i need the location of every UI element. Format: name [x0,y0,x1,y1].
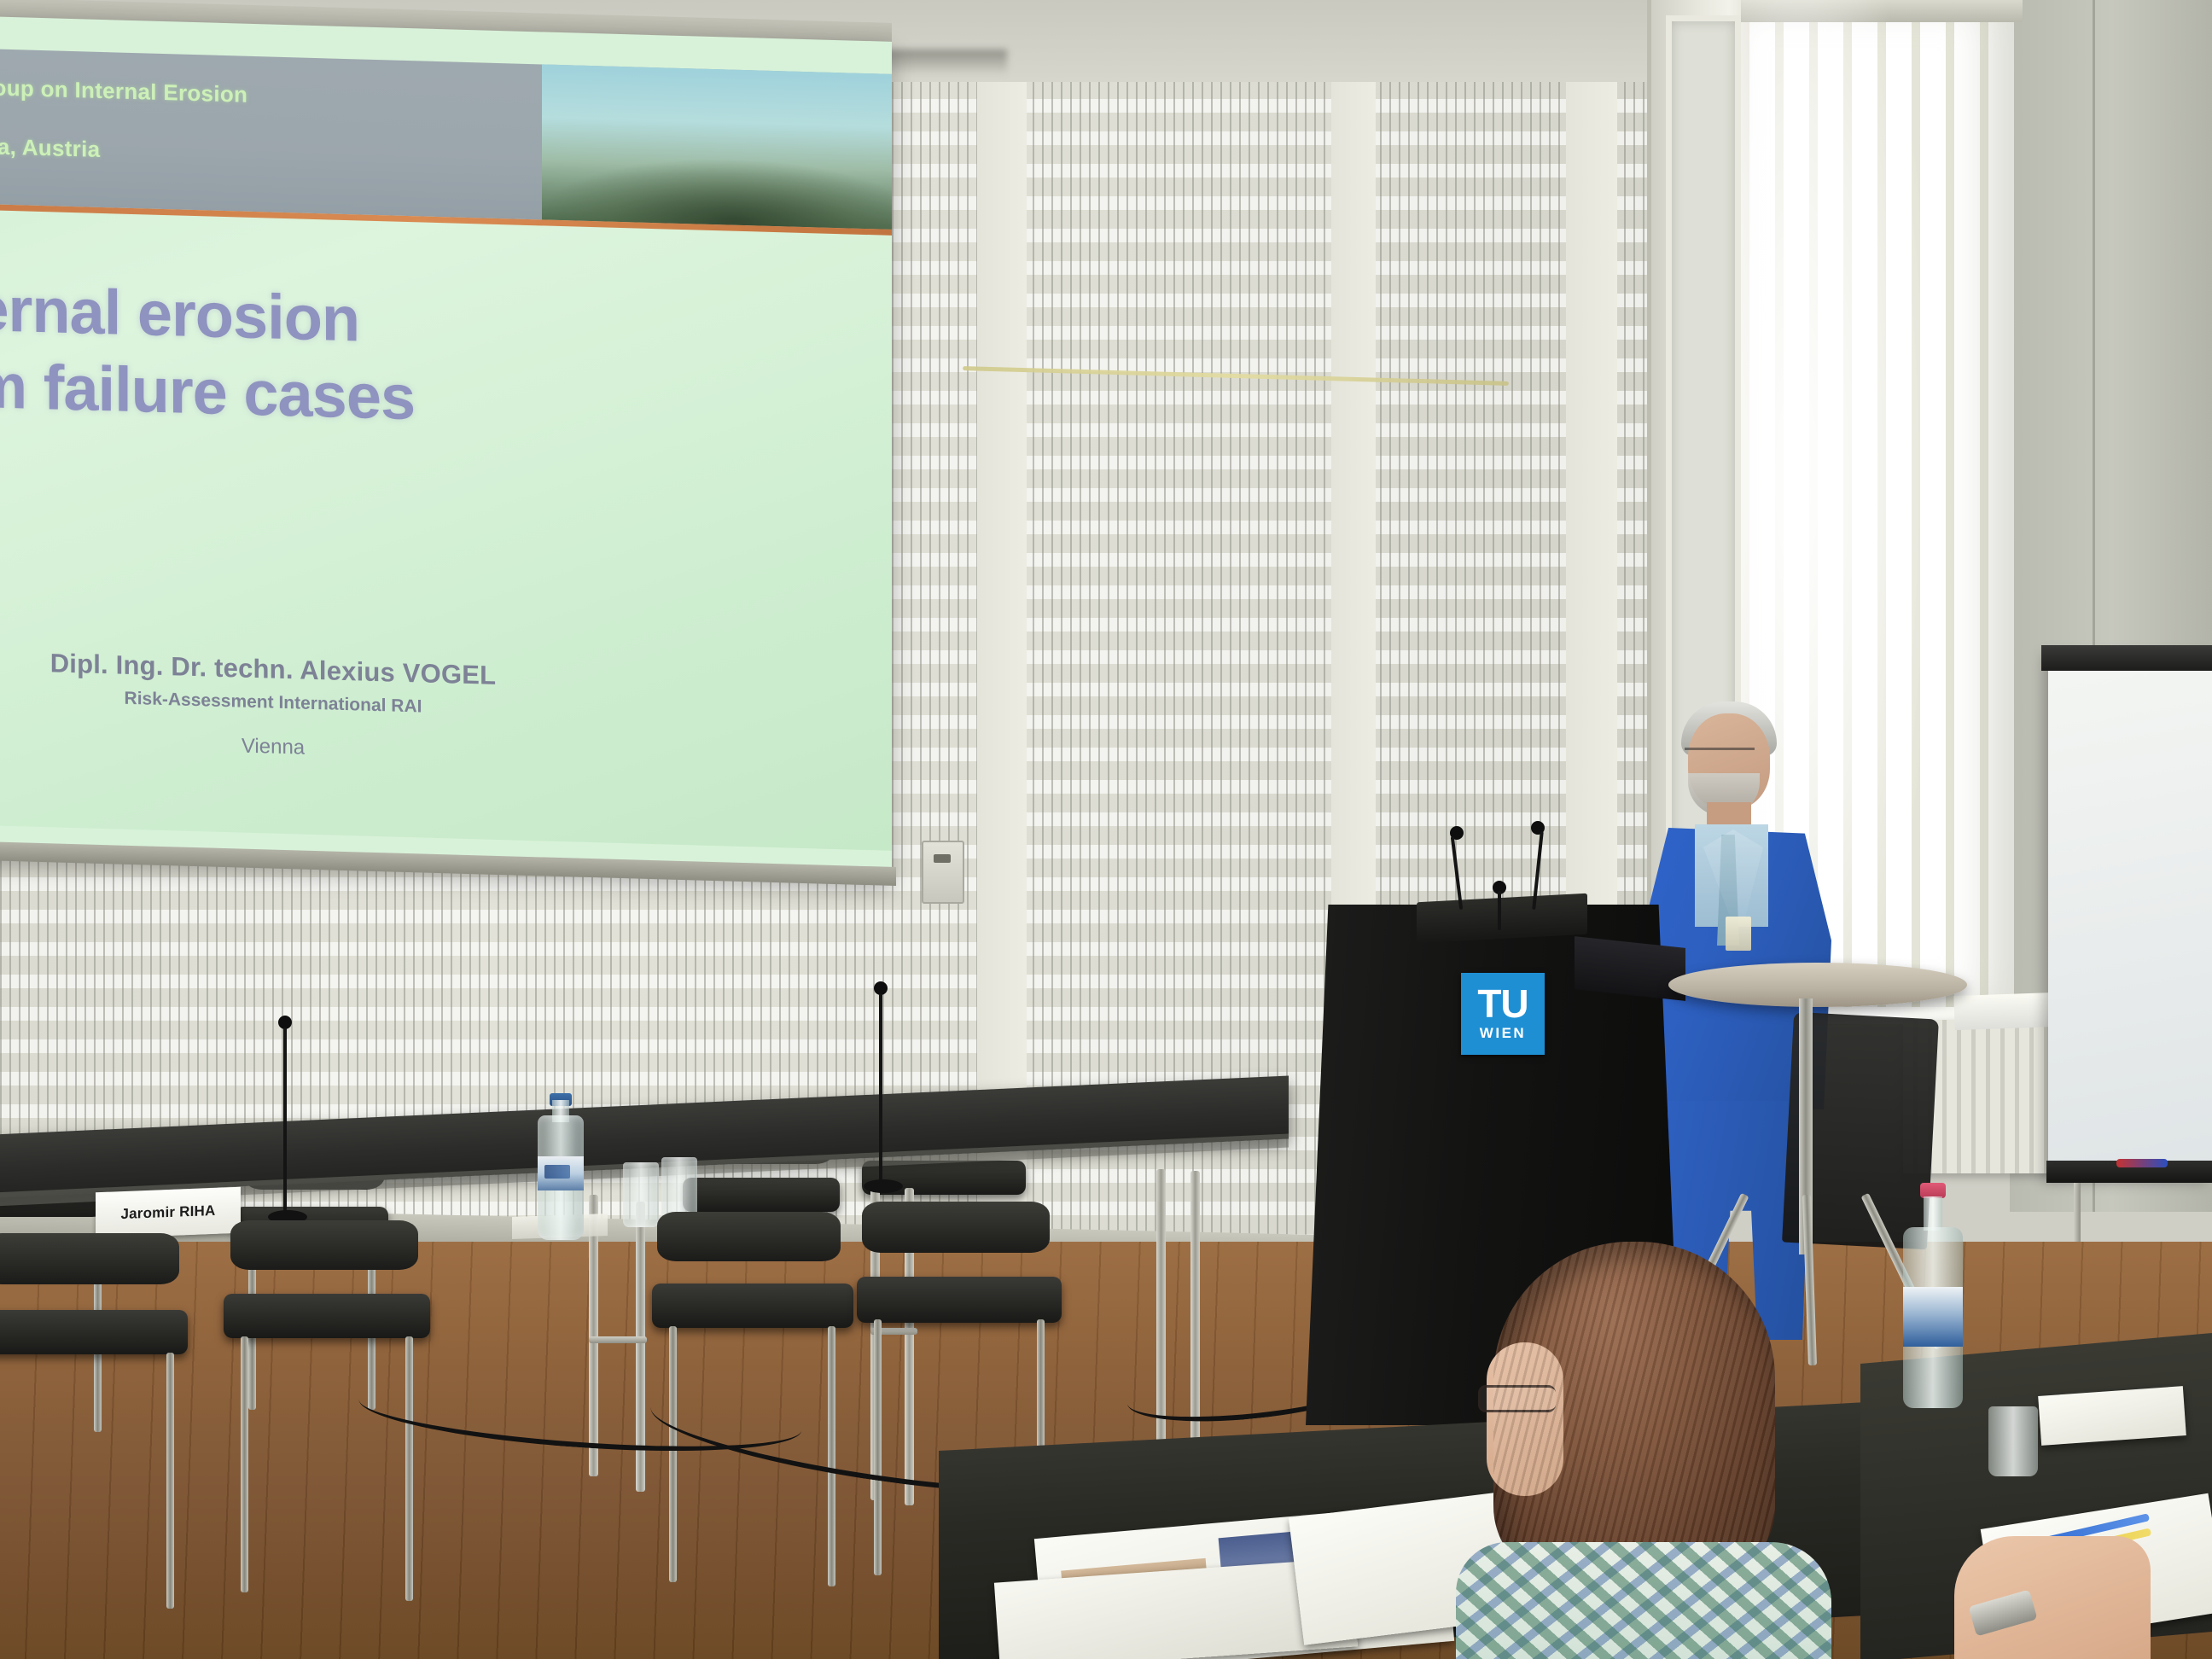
attendee-hand [1954,1536,2151,1659]
chair-leg [241,1336,248,1592]
bottle-label [538,1156,584,1190]
chair-seat [683,1178,840,1212]
chair-back [0,1233,179,1284]
wall-control-plate[interactable] [922,841,964,904]
chair-back [230,1220,418,1270]
water-bottle[interactable] [538,1095,584,1240]
nameplate: Jaromir RIHA [96,1187,241,1239]
blinds-rail [1741,0,2023,22]
tu-logo-line-2: WIEN [1480,1025,1526,1042]
chair-back [657,1212,841,1261]
chair-seat [652,1284,853,1328]
chair-seat [857,1277,1062,1323]
author-city: Vienna [0,726,597,768]
bottle-label [1903,1287,1963,1347]
microphone-stem [1498,891,1501,930]
table-brace [589,1336,647,1343]
nameplate-text: Jaromir RIHA [120,1202,215,1223]
flipchart-markers[interactable] [2116,1159,2168,1167]
standing-table-top [1668,963,1967,1007]
seated-attendee [1442,1242,1886,1659]
drinking-glass[interactable] [1988,1406,2038,1476]
flipchart-top-rail [2041,645,2212,671]
microphone-stem [879,993,882,1181]
tu-logo-line-1: TU [1477,986,1528,1022]
chair-leg [405,1336,413,1601]
drinking-glass[interactable] [623,1162,659,1227]
presentation-slide: rking Group on Internal Erosion eeting 1… [0,48,892,851]
water-bottle[interactable] [1903,1186,1963,1408]
tu-wien-logo: TU WIEN [1461,973,1545,1055]
chair-back [862,1202,1050,1253]
glasses-icon [1685,748,1755,763]
papers-on-sill [1953,992,2057,1030]
slide-title: Internal erosion dam failure cases [0,268,616,442]
presenter-badge [1726,917,1751,951]
attendee-blouse [1456,1542,1831,1659]
microphone-stem [283,1027,287,1211]
projection-screen: rking Group on Internal Erosion eeting 1… [0,15,892,882]
flipchart-paper [2048,649,2212,1178]
slide-header-text: rking Group on Internal Erosion eeting 1… [0,71,247,169]
chair-leg [166,1353,174,1609]
paper-sheet[interactable] [2038,1386,2186,1446]
photo-scene: rking Group on Internal Erosion eeting 1… [0,0,2212,1659]
chair-leg [669,1326,677,1582]
slide-header-photo [542,64,892,229]
microphone-base [864,1179,903,1193]
slide-author-block: Dipl. Ing. Dr. techn. Alexius VOGEL Risk… [0,645,597,768]
attendee-hair-detail [1493,1242,1775,1583]
chair-seat [224,1294,430,1338]
bottle-neck [1924,1196,1942,1231]
chair-seat [0,1310,188,1354]
